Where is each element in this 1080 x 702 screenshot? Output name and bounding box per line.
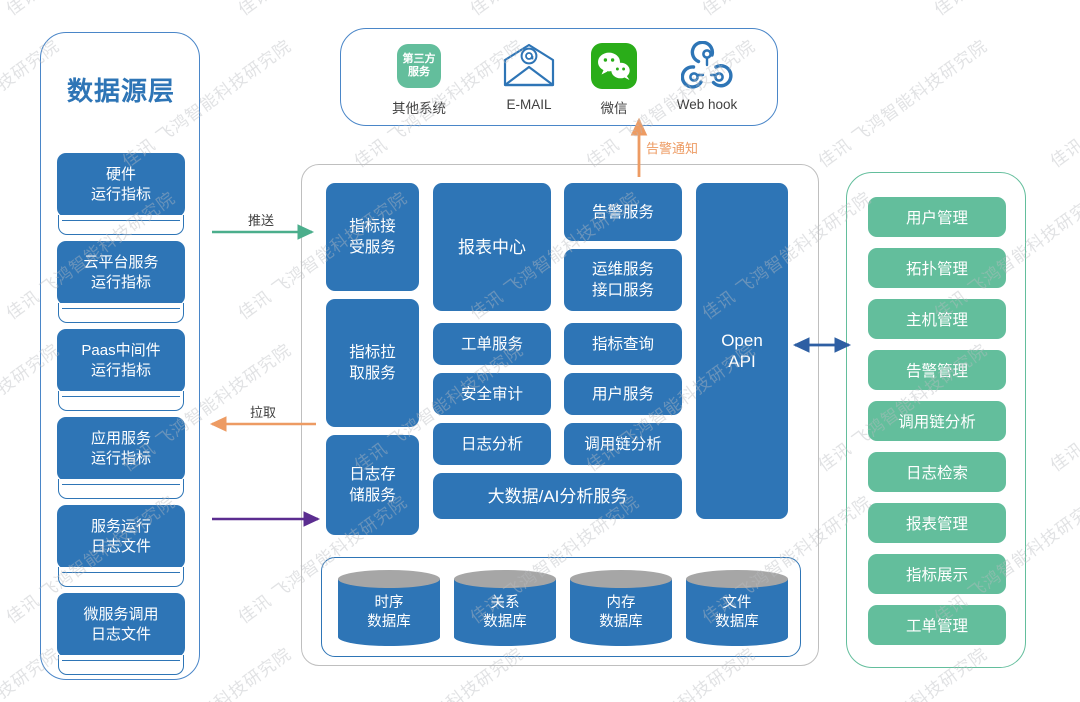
arrow-label-alert-notify: 告警通知 bbox=[646, 138, 698, 157]
connector-layer bbox=[0, 0, 1080, 702]
arrow-label-pull: 拉取 bbox=[250, 402, 276, 421]
arrow-label-push: 推送 bbox=[248, 210, 274, 229]
architecture-diagram: 推送 拉取 告警通知 数据源层 硬件 运行指标 云平台服务 运行指标 Paas中… bbox=[0, 0, 1080, 702]
